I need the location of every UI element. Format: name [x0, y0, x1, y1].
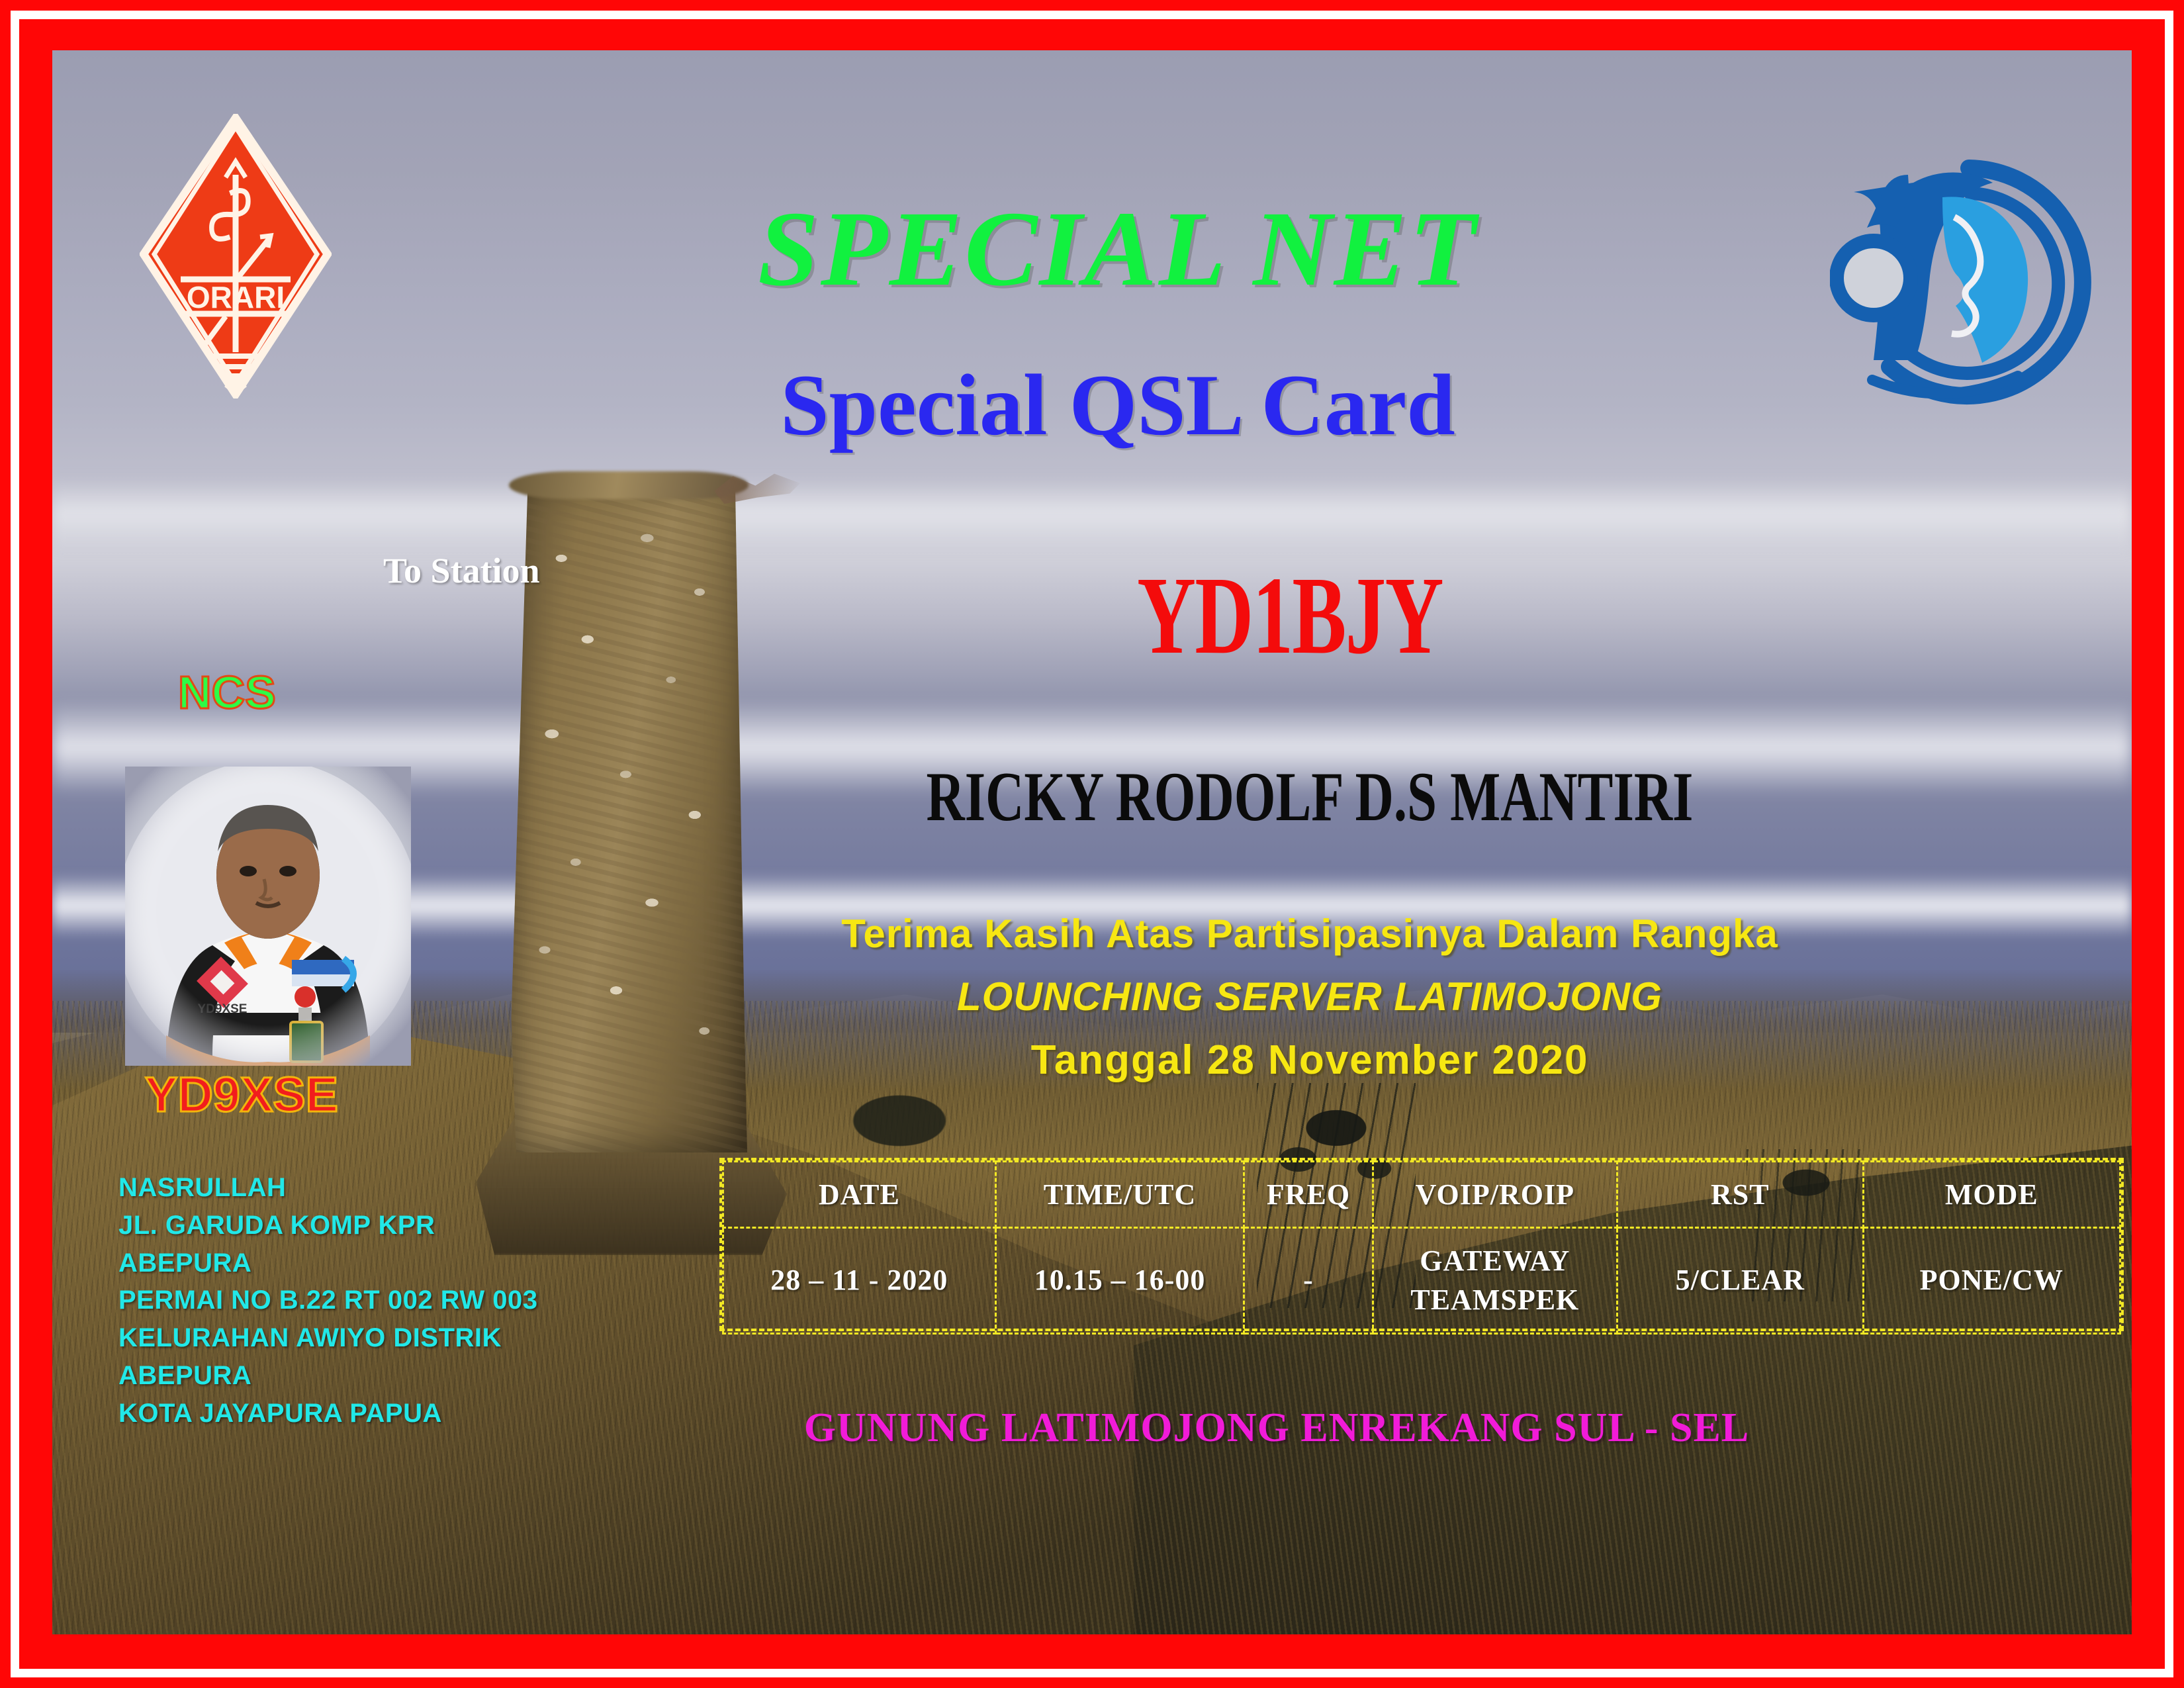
column-header-time: TIME/UTC [995, 1162, 1244, 1228]
cell-voip-line2: TEAMSPEK [1410, 1284, 1579, 1316]
cell-voip-roip: GATEWAY TEAMSPEK [1373, 1228, 1617, 1334]
column-header-rst: RST [1617, 1162, 1864, 1228]
orari-wordmark: ORARI [187, 280, 285, 314]
address-line: PERMAI NO B.22 RT 002 RW 003 [118, 1282, 714, 1319]
operator-name: RICKY RODOLF D.S MANTIRI [809, 762, 1810, 832]
thanks-line-1: Terima Kasih Atas Partisipasinya Dalam R… [714, 911, 1905, 957]
station-callsign: YD1BJY [910, 560, 1670, 671]
address-block: NASRULLAH JL. GARUDA KOMP KPR ABEPURA PE… [118, 1169, 714, 1432]
cell-voip-line1: GATEWAY [1420, 1244, 1570, 1277]
footer-slogan: "AMATIR RADIO ADALAH PROGRESIVE" [130, 1630, 900, 1634]
address-line: ABEPURA [118, 1357, 714, 1395]
cell-rst: 5/CLEAR [1617, 1228, 1864, 1334]
table-row: 28 – 11 - 2020 10.15 – 16-00 - GATEWAY T… [723, 1228, 2120, 1334]
to-station-label: To Station [383, 550, 540, 591]
background-photo-mountain-summit: ORARI [52, 50, 2132, 1634]
column-header-freq: FREQ [1244, 1162, 1373, 1228]
thanks-line-2: LOUNCHING SERVER LATIMOJONG [714, 974, 1905, 1019]
footer-web-address: Address : amatir.latimojong.com [1326, 1630, 1901, 1634]
column-header-date: DATE [723, 1162, 996, 1228]
cell-time: 10.15 – 16-00 [995, 1228, 1244, 1334]
thanks-line-3: Tanggal 28 November 2020 [714, 1037, 1905, 1084]
address-line: KOTA JAYAPURA PAPUA [118, 1395, 714, 1432]
qsl-card-frame: ORARI [0, 0, 2184, 1688]
address-line: KELURAHAN AWIYO DISTRIK [118, 1319, 714, 1357]
cell-date: 28 – 11 - 2020 [723, 1228, 996, 1334]
radio-headset-logo-icon [1830, 148, 2108, 413]
page-subtitle: Special QSL Card [423, 361, 1813, 449]
address-line: ABEPURA [118, 1244, 714, 1282]
location-caption: GUNUNG LATIMOJONG ENREKANG SUL - SEL [648, 1405, 1905, 1452]
cell-freq: - [1244, 1228, 1373, 1334]
frame-white-band: ORARI [11, 11, 2173, 1677]
ncs-callsign: YD9XSE [145, 1066, 338, 1123]
frame-red-inner-band: ORARI [19, 19, 2165, 1669]
orari-logo: ORARI [140, 114, 332, 399]
table-header-row: DATE TIME/UTC FREQ VOIP/ROIP RST MODE [723, 1162, 2120, 1228]
qso-log-table: DATE TIME/UTC FREQ VOIP/ROIP RST MODE [719, 1158, 2124, 1331]
address-line: NASRULLAH [118, 1169, 714, 1207]
column-header-voip-roip: VOIP/ROIP [1373, 1162, 1617, 1228]
column-header-mode: MODE [1863, 1162, 2120, 1228]
address-line: JL. GARUDA KOMP KPR [118, 1207, 714, 1244]
page-title: SPECIAL NET [409, 196, 1827, 303]
cell-mode: PONE/CW [1863, 1228, 2120, 1334]
avatar: YD9XSE [125, 767, 411, 1066]
ncs-label: NCS [178, 666, 276, 719]
